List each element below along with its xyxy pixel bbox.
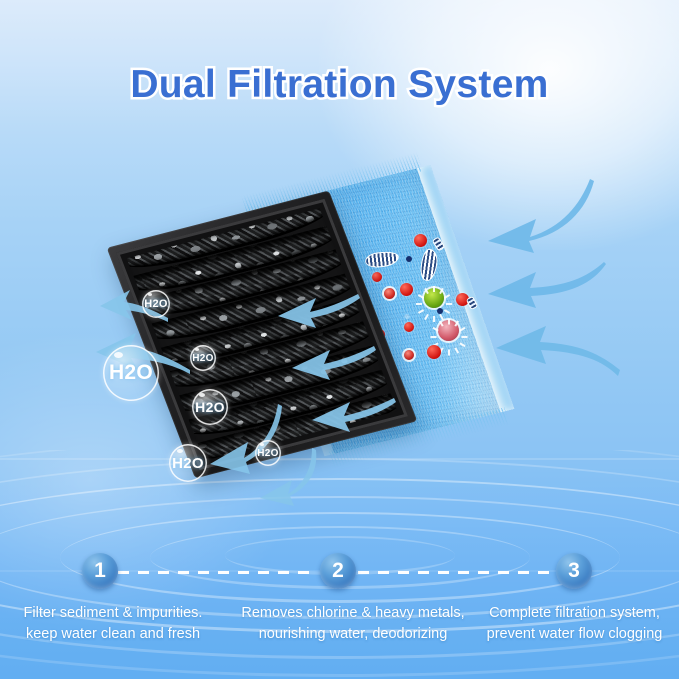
h2o-bubble: H2O [255, 440, 281, 466]
h2o-bubble: H2O [103, 345, 159, 401]
step-connector-2-3 [358, 571, 554, 574]
h2o-bubbles: H2OH2OH2OH2OH2OH2O [0, 0, 679, 560]
step-caption-1: Filter sediment & impurities. keep water… [0, 603, 226, 645]
step-caption-2: Removes chlorine & heavy metals, nourish… [226, 603, 480, 645]
step-caption-3: Complete filtration system, prevent wate… [470, 603, 679, 645]
step-caption-3-line-2: prevent water flow clogging [470, 624, 679, 645]
filter-illustration: H2OH2OH2OH2OH2OH2O [0, 0, 679, 560]
step-connector-1-2 [118, 571, 318, 574]
process-steps: 1 2 3 Filter sediment & impurities. keep… [0, 553, 679, 679]
step-number-1: 1 [82, 553, 118, 589]
step-caption-2-line-1: Removes chlorine & heavy metals, [226, 603, 480, 624]
h2o-bubble: H2O [190, 345, 216, 371]
infographic-canvas: Dual Filtration System [0, 0, 679, 679]
h2o-bubble: H2O [169, 444, 207, 482]
h2o-bubble: H2O [192, 389, 228, 425]
step-caption-1-line-1: Filter sediment & impurities. [0, 603, 226, 624]
step-caption-1-line-2: keep water clean and fresh [0, 624, 226, 645]
step-caption-2-line-2: nourishing water, deodorizing [226, 624, 480, 645]
step-caption-3-line-1: Complete filtration system, [470, 603, 679, 624]
h2o-bubble: H2O [142, 290, 170, 318]
step-number-2: 2 [320, 553, 356, 589]
step-number-3: 3 [556, 553, 592, 589]
